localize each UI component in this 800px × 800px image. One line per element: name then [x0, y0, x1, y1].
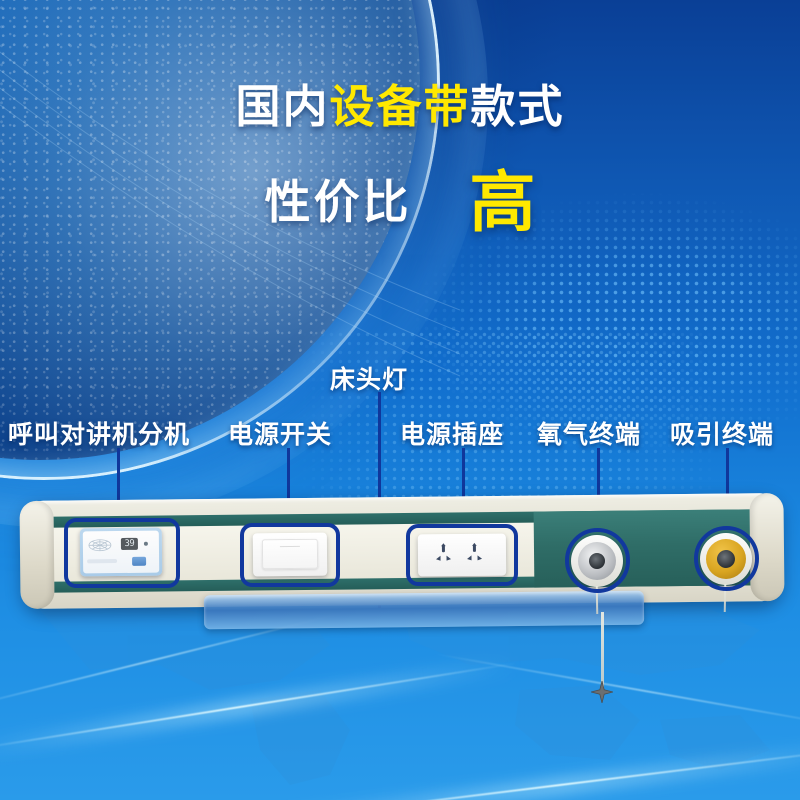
- callout-label-bed-lamp: 床头灯: [330, 360, 408, 396]
- highlight-box-power-switch: [240, 523, 340, 587]
- pull-cord-handle-icon[interactable]: [591, 681, 613, 703]
- subline-yellow-text: 高: [470, 164, 536, 241]
- subline-white-text: 性价比: [265, 175, 412, 229]
- panel-lower-rail: [204, 591, 644, 630]
- promo-banner: 国内设备带款式 性价比高 呼叫对讲机分机 电源开关 床头灯 电源插座 氧气终端 …: [0, 0, 800, 800]
- callout-label-power-socket: 电源插座: [400, 415, 504, 451]
- highlight-box-power-socket: [406, 524, 518, 586]
- headline-line-2: 性价比高: [0, 170, 800, 236]
- highlight-circle-oxygen: [565, 528, 630, 593]
- headline-part-2-highlight: 设备带: [329, 80, 470, 133]
- callout-label-power-switch: 电源开关: [228, 415, 332, 451]
- callout-label-oxygen: 氧气终端: [537, 415, 641, 451]
- panel-end-cap-left: [19, 501, 54, 609]
- headline-part-1: 国内: [235, 80, 329, 133]
- highlight-circle-suction: [694, 526, 759, 591]
- callout-label-suction: 吸引终端: [670, 415, 774, 451]
- halftone-world-dots-lower: [300, 330, 720, 510]
- bed-lamp-pull-cord[interactable]: [601, 612, 604, 688]
- headline-part-3: 款式: [471, 80, 565, 133]
- highlight-box-intercom: [64, 518, 180, 588]
- headline-line-1: 国内设备带款式: [0, 84, 800, 129]
- callout-label-intercom: 呼叫对讲机分机: [8, 415, 190, 451]
